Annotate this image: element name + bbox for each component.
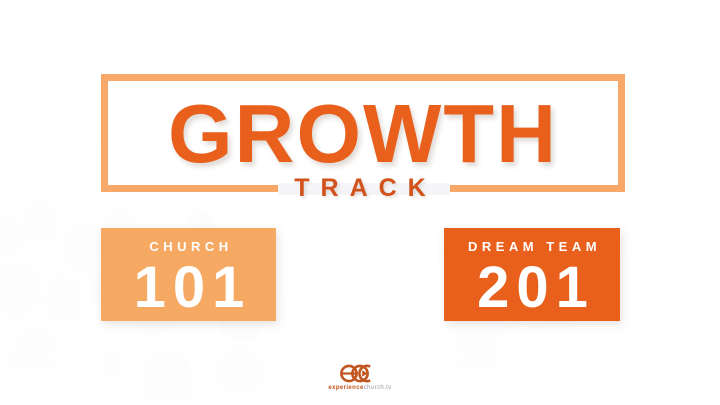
- experience-church-tv-logo-icon: [336, 364, 384, 383]
- brand-logo-text-primary: experience: [328, 385, 363, 391]
- background-gradient-overlay: [0, 0, 720, 405]
- course-kicker-church: CHURCH: [144, 239, 232, 254]
- subtitle: TRACK: [0, 176, 720, 201]
- subtitle-text: TRACK: [283, 174, 437, 202]
- brand-logo-text-secondary: church.tv: [364, 385, 392, 391]
- background-photo: [0, 0, 720, 405]
- course-number-201: 201: [469, 259, 595, 317]
- course-number-101: 101: [126, 259, 252, 317]
- course-card-church-101[interactable]: CHURCH 101: [101, 228, 276, 321]
- brand-logo-text: experiencechurch.tv: [328, 385, 391, 391]
- growth-track-slide: GROWTH TRACK CHURCH 101 DREAM TEAM 201 e…: [0, 0, 720, 405]
- course-kicker-dream-team: DREAM TEAM: [463, 239, 601, 254]
- brand-logo[interactable]: experiencechurch.tv: [0, 364, 720, 391]
- title-text: GROWTH: [168, 92, 558, 175]
- course-card-dream-team-201[interactable]: DREAM TEAM 201: [444, 228, 620, 321]
